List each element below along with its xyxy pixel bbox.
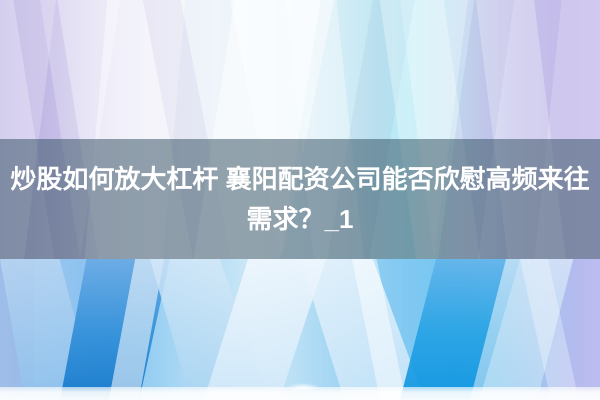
title-overlay-band: 炒股如何放大杠杆 襄阳配资公司能否欣慰高频来往需求？_1 — [0, 139, 600, 259]
bottom-blue-chevron-region — [0, 259, 600, 400]
article-thumbnail-banner: 炒股如何放大杠杆 襄阳配资公司能否欣慰高频来往需求？_1 — [0, 0, 600, 400]
bottom-white-fade-strip — [0, 387, 600, 400]
banner-title: 炒股如何放大杠杆 襄阳配资公司能否欣慰高频来往需求？_1 — [4, 159, 596, 239]
